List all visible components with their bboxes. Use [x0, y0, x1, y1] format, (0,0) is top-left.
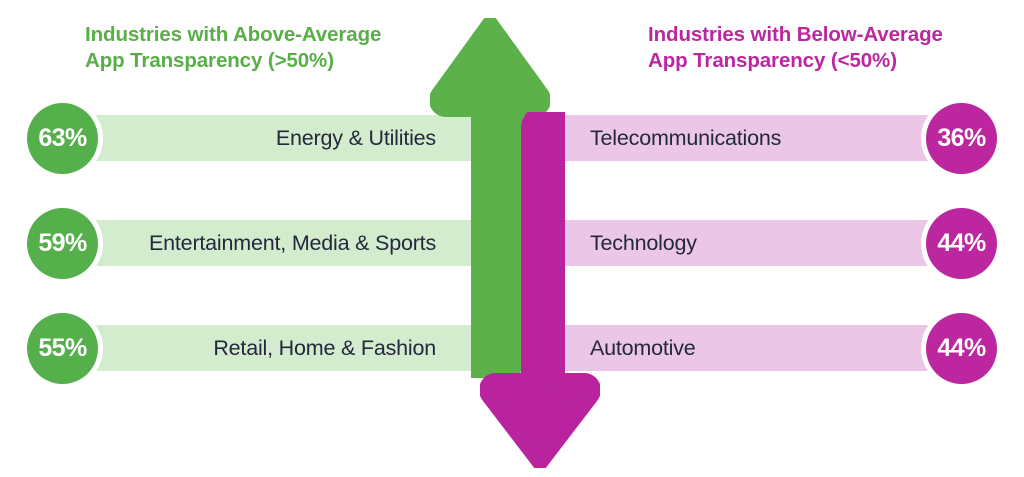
- left-row-3-percent: 55%: [27, 313, 98, 384]
- down-arrow-icon: [480, 112, 600, 468]
- up-arrow-icon: [430, 18, 550, 378]
- right-row-1-label: Telecommunications: [590, 126, 781, 151]
- right-row-1-percent: 36%: [926, 103, 997, 174]
- left-row-3: Retail, Home & Fashion 55%: [62, 325, 502, 371]
- left-row-3-label: Retail, Home & Fashion: [213, 336, 436, 361]
- left-header-line-2: App Transparency (>50%): [85, 48, 445, 74]
- right-row-2: Technology 44%: [522, 220, 962, 266]
- left-row-2: Entertainment, Media & Sports 59%: [62, 220, 502, 266]
- left-row-1-label: Energy & Utilities: [276, 126, 436, 151]
- right-bar-3: Automotive: [522, 325, 962, 371]
- left-bar-3: Retail, Home & Fashion: [62, 325, 502, 371]
- right-bar-2: Technology: [522, 220, 962, 266]
- right-column-header: Industries with Below-Average App Transp…: [648, 22, 1008, 74]
- left-row-1: Energy & Utilities 63%: [62, 115, 502, 161]
- right-row-3-label: Automotive: [590, 336, 696, 361]
- transparency-infographic: Industries with Above-Average App Transp…: [0, 0, 1024, 477]
- left-row-1-percent: 63%: [27, 103, 98, 174]
- left-bar-1: Energy & Utilities: [62, 115, 502, 161]
- right-row-3-percent: 44%: [926, 313, 997, 384]
- left-column-header: Industries with Above-Average App Transp…: [85, 22, 445, 74]
- left-header-line-1: Industries with Above-Average: [85, 22, 445, 48]
- right-header-line-2: App Transparency (<50%): [648, 48, 1008, 74]
- right-row-2-label: Technology: [590, 231, 697, 256]
- right-row-1: Telecommunications 36%: [522, 115, 962, 161]
- left-row-2-percent: 59%: [27, 208, 98, 279]
- right-row-3: Automotive 44%: [522, 325, 962, 371]
- left-bar-2: Entertainment, Media & Sports: [62, 220, 502, 266]
- right-header-line-1: Industries with Below-Average: [648, 22, 1008, 48]
- left-row-2-label: Entertainment, Media & Sports: [149, 231, 436, 256]
- right-row-2-percent: 44%: [926, 208, 997, 279]
- right-bar-1: Telecommunications: [522, 115, 962, 161]
